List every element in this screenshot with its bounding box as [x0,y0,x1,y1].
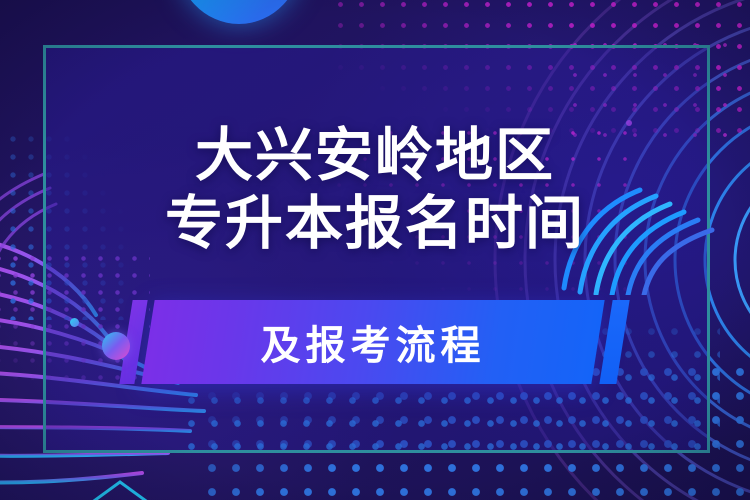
poster-banner: 大兴安岭地区 专升本报名时间 及报考流程 [0,0,750,500]
hexagon-outline [72,470,168,500]
page-title: 大兴安岭地区 专升本报名时间 [0,122,750,258]
banner-tail-stripe [599,300,629,384]
gradient-orb [102,332,130,360]
tiny-orb [626,120,632,126]
subtitle-text: 及报考流程 [148,300,598,384]
headline-line-1: 大兴安岭地区 [0,122,750,190]
headline-line-2: 专升本报名时间 [0,190,750,258]
small-orb [70,318,79,327]
